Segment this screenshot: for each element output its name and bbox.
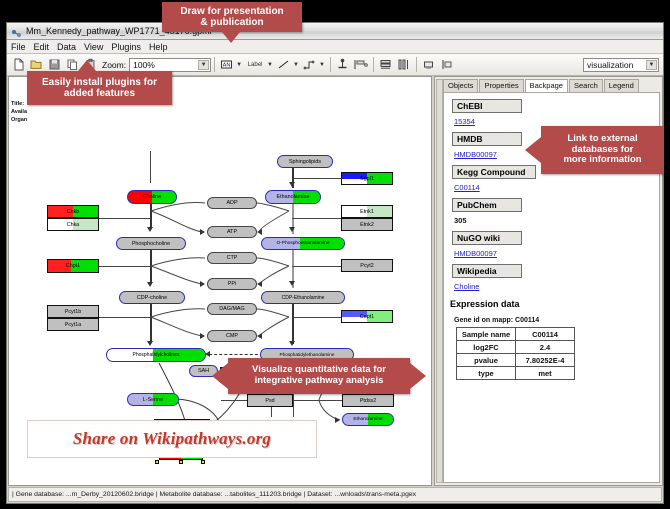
row-value: 7.80252E-4 — [516, 354, 575, 367]
node-sphingolipids[interactable]: Sphingolipids — [277, 155, 333, 168]
arrow-left-icon — [257, 229, 262, 235]
chevron-down-icon[interactable]: ▼ — [198, 60, 209, 70]
node-choline-top[interactable]: Choline — [127, 190, 177, 204]
db-section-nugo: NuGO wiki HMDB00097 — [444, 225, 659, 258]
chevron-down-icon-2[interactable]: ▼ — [646, 60, 657, 70]
db-header-pubchem: PubChem — [452, 198, 522, 212]
node-label: CTP — [227, 255, 238, 261]
node-gene-chkb[interactable]: Chkb — [47, 205, 99, 218]
db-section-wikipedia: Wikipedia Choline — [444, 258, 659, 291]
toolbar-separator-4 — [416, 57, 417, 72]
callout-visualize-pointer-left — [212, 363, 228, 389]
arrow-right-icon — [335, 417, 340, 423]
node-gene-pcyt1a[interactable]: Pcyt1a — [47, 318, 99, 331]
node-o-phosphoethanolamine[interactable]: O-Phosphoethanolamine — [261, 237, 345, 250]
node-label: CDP-Ethanolamine — [282, 295, 325, 301]
table-row: pvalue 7.80252E-4 — [457, 354, 575, 367]
node-label: Phosphocholine — [132, 241, 170, 247]
edge-dashed-conversion — [209, 354, 263, 355]
node-gene-ptdss2[interactable]: Ptdss2 — [342, 394, 394, 407]
row-key: pvalue — [457, 354, 516, 367]
row-value: met — [516, 367, 575, 380]
edge-gene-psd — [221, 400, 247, 401]
node-label: Sgpl1 — [360, 176, 374, 182]
selection-handle[interactable] — [155, 460, 159, 464]
edge-gene-sgpl1 — [292, 178, 341, 179]
edge-cdpetn-ptdetn — [292, 304, 294, 344]
callout-visualize-line1: Visualize quantitative data for — [252, 364, 386, 375]
node-label: ATP — [227, 229, 237, 235]
callout-share-text: Share on Wikipathways.org — [73, 429, 271, 449]
callout-visualize-pointer-right — [410, 363, 426, 389]
callout-share: Share on Wikipathways.org — [27, 420, 317, 458]
db-link-kegg[interactable]: C00114 — [454, 183, 659, 192]
db-section-chebi: ChEBI 15354 — [444, 93, 659, 126]
db-link-wikipedia[interactable]: Choline — [454, 282, 659, 291]
callout-links-line1: Link to external — [567, 133, 637, 144]
edge-gene-pcyt2 — [292, 266, 341, 267]
visualization-value: visualization — [587, 60, 633, 70]
row-key: type — [457, 367, 516, 380]
callout-links: Link to external databases for more info… — [541, 126, 664, 174]
gene-id-on-mapp: Gene id on mapp: C00114 — [454, 317, 659, 324]
node-label: Ethanolamine — [353, 417, 382, 422]
stack-icon[interactable] — [377, 56, 394, 73]
node-label: Pcyt1a — [65, 322, 81, 328]
row-value: 2.4 — [516, 341, 575, 354]
db-header-hmdb: HMDB — [452, 132, 522, 146]
row-key: Sample name — [457, 328, 516, 341]
node-phosphatidylcholines[interactable]: Phosphatidylcholines — [106, 348, 206, 362]
callout-plugins-line1: Easily install plugins for — [42, 77, 157, 88]
node-label: ADP — [226, 200, 237, 206]
callout-links-pointer — [525, 137, 541, 163]
align-left-icon[interactable] — [352, 56, 369, 73]
node-label: O-Phosphoethanolamine — [276, 241, 329, 246]
db-header-chebi: ChEBI — [452, 99, 522, 113]
node-gene-etnk1[interactable]: Etnk1 — [341, 205, 393, 218]
node-gene-psd[interactable]: Psd — [247, 394, 293, 407]
callout-links-line2: databases for — [572, 144, 634, 155]
elbow-connector-icon[interactable] — [301, 56, 318, 73]
node-label: SAH — [198, 368, 209, 374]
db-value-pubchem: 305 — [454, 216, 659, 225]
window-titlebar: Mm_Kennedy_pathway_WP1771_45176.gpml — [7, 23, 663, 40]
node-ppi[interactable]: PPi — [207, 278, 257, 290]
db-header-nugo: NuGO wiki — [452, 231, 522, 245]
connector-dropdown-icon[interactable]: ▼ — [319, 62, 325, 68]
table-row: Sample name C00114 — [457, 328, 575, 341]
distribute-icon[interactable] — [395, 56, 412, 73]
node-label: CDP-choline — [137, 295, 167, 301]
visualization-combo[interactable]: visualization ▼ — [583, 58, 659, 72]
db-link-nugo[interactable]: HMDB00097 — [454, 249, 659, 258]
menu-data[interactable]: Data — [57, 42, 76, 52]
menu-help[interactable]: Help — [149, 42, 168, 52]
toolbar-separator — [214, 57, 215, 72]
db-header-wikipedia: Wikipedia — [452, 264, 522, 278]
line-dropdown-icon[interactable]: ▼ — [293, 62, 299, 68]
status-bar: | Gene database: ...m_Derby_20120602.bri… — [8, 487, 662, 502]
toolbar-separator-3 — [373, 57, 374, 72]
datanode-icon[interactable]: AN — [218, 56, 235, 73]
node-cmp[interactable]: CMP — [207, 330, 257, 342]
arrow-down-icon — [289, 341, 295, 346]
label-tool[interactable]: Label — [244, 56, 266, 73]
tab-legend[interactable]: Legend — [604, 79, 639, 92]
node-label: Phosphatidylethanolamine — [280, 352, 335, 357]
callout-draw-line2: & publication — [200, 17, 263, 28]
callout-plugins: Easily install plugins for added feature… — [27, 71, 172, 105]
callout-visualize: Visualize quantitative data for integrat… — [228, 358, 410, 394]
menu-file[interactable]: File — [11, 42, 26, 52]
tab-search[interactable]: Search — [569, 79, 603, 92]
expression-data-heading: Expression data — [450, 299, 659, 309]
node-label: PPi — [228, 281, 236, 287]
expression-data-table: Sample name C00114 log2FC 2.4 pvalue 7.8… — [456, 327, 575, 380]
svg-text:AN: AN — [223, 63, 231, 69]
node-label: Ptdss2 — [360, 398, 376, 404]
callout-links-line3: more information — [563, 154, 641, 165]
node-cdp-ethanolamine[interactable]: CDP-Ethanolamine — [261, 291, 345, 304]
toolbar-separator-2 — [330, 57, 331, 72]
node-label: Pcyt1b — [65, 309, 81, 315]
zoom-value: 100% — [133, 60, 155, 70]
db-header-kegg: Kegg Compound — [452, 165, 536, 179]
tab-objects[interactable]: Objects — [443, 79, 478, 92]
node-label: DAG/MAG — [219, 306, 244, 312]
node-gene-etnk2[interactable]: Etnk2 — [341, 218, 393, 231]
label-dropdown-icon[interactable]: ▼ — [267, 62, 273, 68]
node-ctp[interactable]: CTP — [207, 252, 257, 264]
node-phosphocholine[interactable]: Phosphocholine — [116, 237, 186, 250]
arrow-down-icon — [289, 281, 295, 286]
node-label: Psd — [265, 398, 274, 404]
arrow-left-icon — [257, 333, 262, 339]
tab-properties[interactable]: Properties — [479, 79, 523, 92]
status-bar-text: | Gene database: ...m_Derby_20120602.bri… — [12, 491, 416, 498]
node-label: Choline — [143, 194, 161, 200]
tab-backpage[interactable]: Backpage — [525, 79, 568, 93]
node-gene-sgpl1[interactable]: Sgpl1 — [341, 172, 393, 185]
table-row: type met — [457, 367, 575, 380]
datanode-dropdown-icon[interactable]: ▼ — [236, 62, 242, 68]
node-l-serine-left[interactable]: L-Serine — [127, 393, 179, 406]
line-icon[interactable] — [275, 56, 292, 73]
selection-handle[interactable] — [179, 460, 183, 464]
node-gene-pcyt1b[interactable]: Pcyt1b — [47, 305, 99, 318]
anchor-icon[interactable] — [334, 56, 351, 73]
new-file-icon[interactable] — [10, 56, 27, 73]
node-adp[interactable]: ADP — [207, 197, 257, 209]
screenshot-root: Mm_Kennedy_pathway_WP1771_45176.gpml Fil… — [0, 0, 670, 509]
node-label: Sphingolipids — [289, 159, 321, 165]
arrow-left-icon — [257, 281, 262, 287]
edge-gene-etnk — [292, 218, 341, 219]
callout-draw-pointer — [222, 32, 240, 43]
row-key: log2FC — [457, 341, 516, 354]
node-label: CMP — [226, 333, 238, 339]
arrow-down-icon — [289, 227, 295, 232]
db-link-chebi[interactable]: 15354 — [454, 117, 659, 126]
callout-plugins-pointer — [78, 60, 96, 71]
node-label: L-Serine — [143, 397, 163, 403]
node-atp[interactable]: ATP — [207, 226, 257, 238]
node-label: Cept1 — [360, 314, 374, 320]
callout-visualize-line2: integrative pathway analysis — [255, 375, 384, 386]
group-icon[interactable] — [420, 56, 437, 73]
zoom-combo[interactable]: 100% ▼ — [129, 58, 211, 72]
menu-edit[interactable]: Edit — [34, 42, 50, 52]
ungroup-icon[interactable] — [438, 56, 455, 73]
node-label: Etnk2 — [360, 222, 374, 228]
node-label: Ethanolamine — [277, 194, 310, 200]
node-label: Chkb — [67, 209, 80, 215]
node-gene-cept1[interactable]: Cept1 — [341, 310, 393, 323]
node-ethanolamine[interactable]: Ethanolamine — [265, 190, 321, 204]
callout-draw: Draw for presentation & publication — [162, 2, 302, 32]
node-label: Pcyt2 — [360, 263, 373, 269]
selection-handle[interactable] — [201, 460, 205, 464]
node-gene-chpt1[interactable]: Chpt1 — [47, 259, 99, 273]
arrow-right-icon — [200, 333, 205, 339]
node-label: Phosphatidylcholines — [133, 352, 180, 358]
panel-scrollbar[interactable] — [436, 79, 443, 483]
pathvisio-app-icon — [11, 26, 22, 37]
table-row: log2FC 2.4 — [457, 341, 575, 354]
zoom-label: Zoom: — [102, 60, 126, 70]
menubar: File Edit Data View Plugins Help — [7, 40, 663, 54]
arrow-down-icon — [289, 182, 295, 187]
edge-gene-cept1 — [292, 317, 341, 318]
menu-plugins[interactable]: Plugins — [111, 42, 141, 52]
edge-gene-ptdss2 — [293, 400, 342, 401]
row-value: C00114 — [516, 328, 575, 341]
node-gene-pcyt2[interactable]: Pcyt2 — [341, 259, 393, 272]
callout-plugins-line2: added features — [64, 88, 135, 99]
node-gene-chka[interactable]: Chka — [47, 218, 99, 231]
panel-tabstrip: Objects Properties Backpage Search Legen… — [443, 79, 660, 92]
arrow-right-icon — [200, 281, 205, 287]
node-label: Chka — [67, 222, 80, 228]
node-dagmag[interactable]: DAG/MAG — [207, 303, 257, 315]
node-ethanolamine-2[interactable]: Ethanolamine — [342, 413, 394, 426]
node-label: Etnk1 — [360, 209, 374, 215]
menu-view[interactable]: View — [84, 42, 103, 52]
node-cdp-choline[interactable]: CDP-choline — [119, 291, 185, 304]
node-label: Chpt1 — [66, 263, 80, 269]
db-section-pubchem: PubChem 305 — [444, 192, 659, 225]
callout-draw-line1: Draw for presentation — [180, 6, 283, 17]
arrow-right-icon — [200, 229, 205, 235]
label-tool-text: Label — [248, 62, 263, 68]
